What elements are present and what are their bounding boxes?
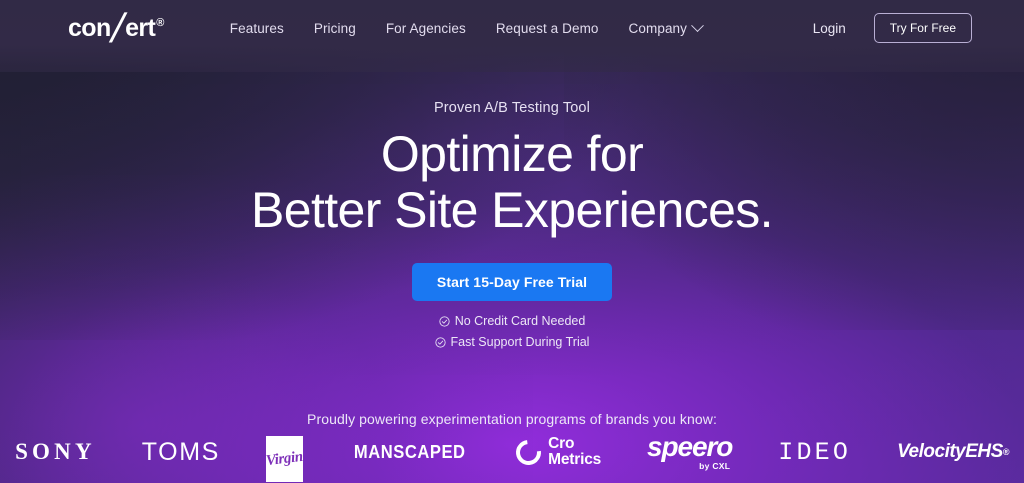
- velocity-ehs-trademark: ®: [1003, 447, 1009, 457]
- velocity-ehs-wordmark: VelocityEHS: [897, 441, 1003, 463]
- header-actions: Login Try For Free: [813, 13, 972, 43]
- login-link[interactable]: Login: [813, 21, 846, 36]
- brand-logo-sony: SONY: [15, 439, 96, 465]
- cro-metrics-wordmark: Cro Metrics: [548, 436, 601, 468]
- brand-logo-virgin-mobile: Virgin mobile: [266, 436, 303, 482]
- site-header: con╱ert ® Features Pricing For Agencies …: [0, 0, 1024, 56]
- brand-logo-manscaped: MANSCAPED: [354, 442, 466, 463]
- nav-item-pricing[interactable]: Pricing: [314, 21, 356, 36]
- brand-logo-ideo: IDEO: [778, 438, 851, 467]
- brand-logo-strip: SONY TOMS Virgin mobile MANSCAPED Cro Me…: [0, 421, 1024, 483]
- nav-label-for-agencies: For Agencies: [386, 21, 466, 36]
- check-circle-icon: [439, 316, 450, 327]
- sony-wordmark: SONY: [15, 439, 96, 465]
- chevron-down-icon: [691, 19, 704, 32]
- convert-logo[interactable]: con╱ert ®: [68, 16, 164, 41]
- speero-wordmark: speero: [647, 433, 732, 461]
- nav-label-features: Features: [230, 21, 284, 36]
- brand-logo-speero: speero by CXL: [647, 433, 732, 471]
- hero-perks: No Credit Card Needed Fast Support Durin…: [0, 312, 1024, 351]
- headline-line-2: Better Site Experiences.: [0, 183, 1024, 239]
- cro-line-2: Metrics: [548, 452, 601, 468]
- headline-line-1: Optimize for: [381, 126, 643, 182]
- speero-sublabel: by CXL: [699, 462, 730, 471]
- start-free-trial-button[interactable]: Start 15-Day Free Trial: [412, 263, 612, 301]
- hero-section: Proven A/B Testing Tool Optimize for Bet…: [0, 0, 1024, 427]
- nav-label-company: Company: [629, 21, 687, 36]
- nav-label-pricing: Pricing: [314, 21, 356, 36]
- nav-item-for-agencies[interactable]: For Agencies: [386, 21, 466, 36]
- nav-item-request-a-demo[interactable]: Request a Demo: [496, 21, 599, 36]
- perk-label: Fast Support During Trial: [451, 333, 590, 351]
- manscaped-wordmark: MANSCAPED: [354, 442, 466, 463]
- cro-metrics-ring-icon: [511, 434, 546, 469]
- main-nav: Features Pricing For Agencies Request a …: [230, 21, 702, 36]
- cta-container: Start 15-Day Free Trial: [0, 263, 1024, 301]
- perk-item: Fast Support During Trial: [435, 333, 590, 351]
- nav-label-request-a-demo: Request a Demo: [496, 21, 599, 36]
- nav-item-company[interactable]: Company: [629, 21, 702, 36]
- perk-item: No Credit Card Needed: [439, 312, 586, 330]
- page-title: Optimize for Better Site Experiences.: [0, 127, 1024, 238]
- perk-label: No Credit Card Needed: [455, 312, 586, 330]
- logo-wordmark: con╱ert: [68, 16, 155, 41]
- ideo-wordmark: IDEO: [778, 438, 851, 467]
- logo-trademark: ®: [156, 18, 164, 29]
- brand-logo-velocity-ehs: VelocityEHS®: [897, 441, 1009, 463]
- nav-item-features[interactable]: Features: [230, 21, 284, 36]
- virgin-wordmark: Virgin: [265, 448, 304, 469]
- brand-logo-toms: TOMS: [142, 438, 220, 467]
- cro-line-1: Cro: [548, 436, 601, 452]
- landing-page: con╱ert ® Features Pricing For Agencies …: [0, 0, 1024, 483]
- hero-eyebrow: Proven A/B Testing Tool: [0, 100, 1024, 116]
- toms-wordmark: TOMS: [142, 438, 220, 467]
- check-circle-icon: [435, 337, 446, 348]
- try-for-free-button[interactable]: Try For Free: [874, 13, 972, 43]
- brand-logo-cro-metrics: Cro Metrics: [516, 436, 601, 468]
